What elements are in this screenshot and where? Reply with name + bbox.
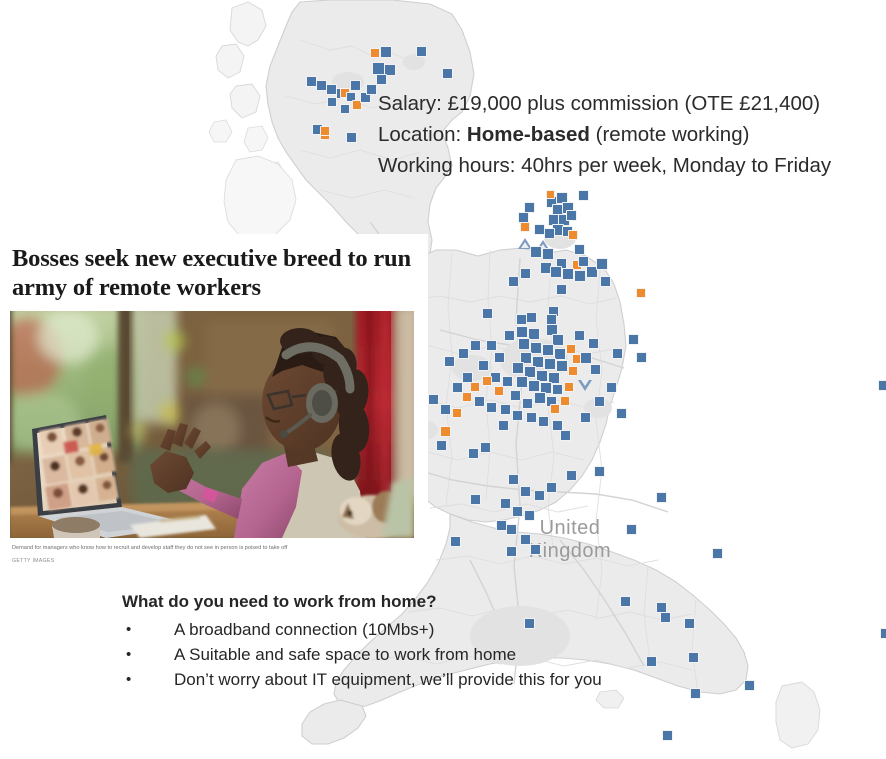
map-marker[interactable] [376,74,387,85]
wfh-item-text: Don’t worry about IT equipment, we’ll pr… [174,667,722,692]
map-marker[interactable] [566,210,577,221]
bullet-icon: • [122,642,174,667]
map-marker[interactable] [462,372,473,383]
map-marker[interactable] [562,268,574,280]
map-marker[interactable] [346,132,357,143]
map-marker[interactable] [580,412,591,423]
map-marker[interactable] [544,358,556,370]
map-marker[interactable] [478,360,489,371]
map-marker[interactable] [534,224,545,235]
map-marker-secondary[interactable] [320,126,330,136]
map-marker[interactable] [327,97,337,107]
bullet-icon: • [122,617,174,642]
map-marker[interactable] [500,498,511,509]
wfh-requirements-block: What do you need to work from home? • A … [122,590,722,692]
map-marker[interactable] [596,258,608,270]
map-marker-secondary[interactable] [636,288,646,298]
map-marker[interactable] [534,490,545,501]
map-marker[interactable] [508,474,519,485]
map-marker-secondary[interactable] [494,386,504,396]
map-marker-secondary[interactable] [560,396,570,406]
map-marker[interactable] [482,308,493,319]
map-marker[interactable] [508,276,519,287]
map-marker[interactable] [468,448,479,459]
map-marker[interactable] [474,396,485,407]
map-marker[interactable] [594,466,605,477]
map-marker[interactable] [628,334,639,345]
map-marker[interactable] [470,494,481,505]
map-marker[interactable] [588,338,599,349]
map-marker[interactable] [578,190,589,201]
map-marker[interactable] [526,412,537,423]
map-marker[interactable] [600,276,611,287]
map-marker[interactable] [416,46,427,57]
map-marker[interactable] [506,546,517,557]
map-marker[interactable] [458,348,469,359]
map-marker[interactable] [606,382,617,393]
map-marker[interactable] [544,228,555,239]
map-marker[interactable] [626,524,637,535]
map-marker[interactable] [428,394,439,405]
job-hours-line: Working hours: 40hrs per week, Monday to… [378,150,878,181]
map-marker[interactable] [578,256,589,267]
map-marker[interactable] [494,352,505,363]
job-details-text-block: Salary: £19,000 plus commission (OTE £21… [378,88,878,181]
news-photo-caption: Demand for managers who know how to recr… [12,544,412,554]
map-marker[interactable] [498,420,509,431]
map-marker[interactable] [656,492,667,503]
map-marker[interactable] [546,482,557,493]
bullet-icon: • [122,667,174,692]
map-marker[interactable] [350,80,361,91]
map-marker[interactable] [574,270,586,282]
map-marker[interactable] [526,312,537,323]
news-photo [10,311,414,538]
map-marker[interactable] [450,536,461,547]
map-marker[interactable] [880,628,886,639]
wfh-list-item: • A Suitable and safe space to work from… [122,642,722,667]
map-marker[interactable] [444,356,455,367]
map-marker[interactable] [486,402,497,413]
map-marker[interactable] [520,268,531,279]
map-marker-triangle-down[interactable] [578,380,592,391]
map-marker-secondary[interactable] [564,382,574,392]
job-location-value: Home-based [467,123,590,146]
map-marker[interactable] [542,344,554,356]
map-marker[interactable] [878,380,886,391]
map-marker[interactable] [552,384,563,395]
map-marker[interactable] [512,362,524,374]
map-marker[interactable] [534,392,546,404]
map-marker[interactable] [504,330,515,341]
job-location-suffix: (remote working) [590,123,750,146]
job-location-line: Location: Home-based (remote working) [378,119,878,150]
map-marker[interactable] [530,246,542,258]
map-marker[interactable] [470,340,481,351]
wfh-list-item: • Don’t worry about IT equipment, we’ll … [122,667,722,692]
map-marker[interactable] [636,352,647,363]
map-marker-secondary[interactable] [568,366,578,376]
map-marker-secondary[interactable] [370,48,380,58]
map-marker[interactable] [530,544,541,555]
map-marker-secondary[interactable] [440,426,451,437]
wfh-list-item: • A broadband connection (10Mbs+) [122,617,722,642]
map-marker[interactable] [522,398,533,409]
map-marker[interactable] [524,510,535,521]
map-marker[interactable] [512,410,523,421]
map-marker-secondary[interactable] [520,222,530,232]
map-marker[interactable] [712,548,723,559]
map-marker[interactable] [500,404,511,415]
map-marker-secondary[interactable] [566,344,576,354]
map-marker[interactable] [590,364,601,375]
map-marker-secondary[interactable] [470,382,480,392]
map-marker[interactable] [616,408,627,419]
map-marker[interactable] [546,314,557,325]
news-article-card: Bosses seek new executive breed to run a… [0,234,428,578]
map-marker[interactable] [612,348,623,359]
remote-worker-photo-illustration [10,311,414,538]
presentation-slide: United Kingdom [0,0,886,759]
map-marker-secondary[interactable] [546,190,555,199]
map-marker[interactable] [556,284,567,295]
map-marker[interactable] [516,376,528,388]
map-marker-secondary[interactable] [550,404,560,414]
map-marker[interactable] [538,416,549,427]
map-marker[interactable] [440,404,451,415]
wfh-item-text: A broadband connection (10Mbs+) [174,617,722,642]
news-photo-credit: Getty Images [12,558,54,564]
map-marker[interactable] [574,330,585,341]
map-marker[interactable] [550,266,562,278]
job-salary-line: Salary: £19,000 plus commission (OTE £21… [378,88,878,119]
wfh-title: What do you need to work from home? [122,590,722,614]
map-marker[interactable] [380,46,392,58]
job-location-prefix: Location: [378,123,467,146]
map-marker[interactable] [560,430,571,441]
map-marker-secondary[interactable] [482,376,492,386]
map-marker[interactable] [506,524,517,535]
map-marker-secondary[interactable] [452,408,462,418]
map-marker[interactable] [744,680,755,691]
map-marker[interactable] [512,506,523,517]
map-marker[interactable] [340,104,350,114]
map-marker[interactable] [510,390,521,401]
map-marker[interactable] [518,338,530,350]
map-marker[interactable] [480,442,491,453]
map-marker[interactable] [542,248,554,260]
news-headline: Bosses seek new executive breed to run a… [12,244,412,302]
map-marker[interactable] [574,244,585,255]
map-marker[interactable] [528,380,540,392]
map-marker[interactable] [556,360,568,372]
map-marker-secondary[interactable] [568,230,578,240]
map-marker[interactable] [662,730,673,741]
map-marker[interactable] [520,486,531,497]
map-marker[interactable] [580,352,592,364]
map-marker[interactable] [366,84,377,95]
map-marker[interactable] [566,470,577,481]
map-marker[interactable] [436,440,447,451]
map-marker[interactable] [486,340,497,351]
map-marker[interactable] [442,68,453,79]
map-marker-secondary[interactable] [462,392,472,402]
wfh-item-text: A Suitable and safe space to work from h… [174,642,722,667]
map-marker[interactable] [516,326,528,338]
map-marker[interactable] [594,396,605,407]
